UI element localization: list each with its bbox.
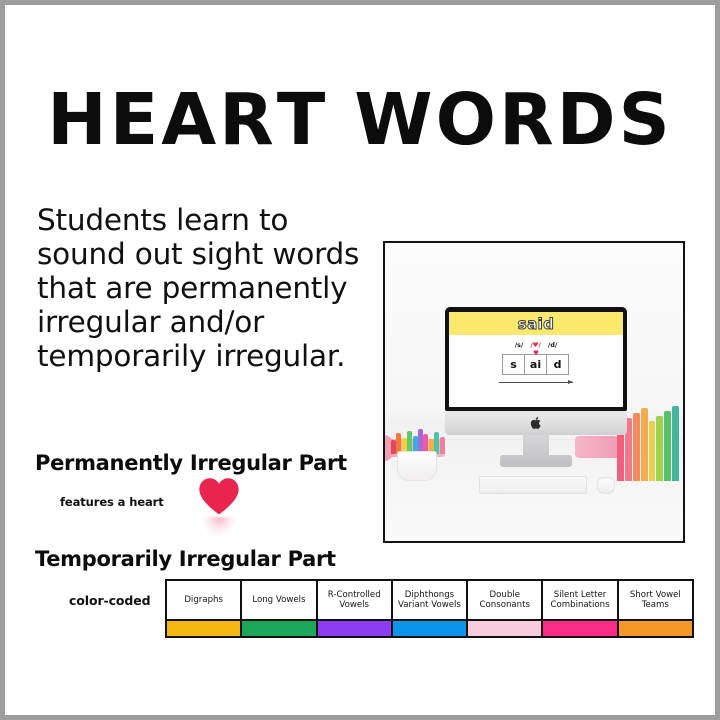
key xyxy=(548,486,554,488)
key xyxy=(541,486,547,488)
color-swatch xyxy=(543,619,616,636)
key xyxy=(504,486,510,488)
key xyxy=(504,482,510,484)
key xyxy=(541,482,547,484)
color-code-label: Long Vowels xyxy=(242,581,315,619)
page-title: HEARTWORDS xyxy=(5,77,715,163)
key xyxy=(511,489,517,491)
key xyxy=(548,489,554,491)
key xyxy=(511,486,517,488)
heart-reflection xyxy=(203,517,235,535)
key xyxy=(519,486,525,488)
color-code-label: Short Vowel Teams xyxy=(619,581,692,619)
key xyxy=(482,486,488,488)
key xyxy=(526,482,532,484)
color-code-label: Silent Letter Combinations xyxy=(543,581,616,619)
imac-computer: said /s//♥//d/ said xyxy=(445,307,627,467)
key xyxy=(563,489,569,491)
key xyxy=(570,479,576,481)
key xyxy=(548,482,554,484)
phoneme-row: /s//♥//d/ xyxy=(449,341,623,349)
title-letter: T xyxy=(277,77,328,163)
sound-box: d xyxy=(546,354,569,375)
key xyxy=(489,486,495,488)
features-a-heart-label: features a heart xyxy=(60,495,164,509)
key xyxy=(534,479,540,481)
pencil-cup-area xyxy=(387,428,449,488)
key xyxy=(511,482,517,484)
key xyxy=(482,479,488,481)
key xyxy=(526,486,532,488)
temporarily-irregular-heading: Temporarily Irregular Part xyxy=(35,547,336,571)
title-letter: H xyxy=(47,77,109,163)
heart-icon xyxy=(198,477,240,515)
key xyxy=(519,489,525,491)
key xyxy=(541,489,547,491)
phoneme: /d/ xyxy=(548,341,557,349)
page-title-text: HEARTWORDS xyxy=(47,77,672,163)
book xyxy=(672,406,679,481)
color-swatch xyxy=(242,619,315,636)
key xyxy=(519,482,525,484)
mini-heart-icon xyxy=(533,350,538,355)
key xyxy=(497,482,503,484)
key xyxy=(563,479,569,481)
color-code-column: Short Vowel Teams xyxy=(619,581,692,636)
banner-word: said xyxy=(518,315,555,333)
slide-canvas: HEARTWORDS Students learn to sound out s… xyxy=(5,5,715,715)
book xyxy=(664,411,671,481)
mouse xyxy=(597,477,615,494)
phoneme: /s/ xyxy=(515,341,524,349)
key xyxy=(578,479,584,481)
color-code-column: Diphthongs Variant Vowels xyxy=(393,581,468,636)
key xyxy=(497,486,503,488)
title-letter: A xyxy=(161,77,219,163)
key xyxy=(534,486,540,488)
key xyxy=(489,489,495,491)
key xyxy=(497,489,503,491)
color-swatch xyxy=(619,619,692,636)
title-letter: R xyxy=(219,77,277,163)
heart-graphic xyxy=(195,477,245,539)
permanently-irregular-heading: Permanently Irregular Part xyxy=(35,451,347,475)
color-coded-label: color-coded xyxy=(69,593,151,608)
title-letter: S xyxy=(619,77,673,163)
key xyxy=(563,486,569,488)
word-banner: said xyxy=(449,312,623,335)
sound-boxes: said xyxy=(449,354,623,375)
key xyxy=(556,489,562,491)
title-letter: R xyxy=(499,77,557,163)
color-code-column: Digraphs xyxy=(167,581,242,636)
pencil xyxy=(391,440,396,454)
book xyxy=(649,421,656,481)
key xyxy=(548,479,554,481)
key xyxy=(489,479,495,481)
color-swatch xyxy=(318,619,391,636)
key xyxy=(534,489,540,491)
color-code-label: R-Controlled Vowels xyxy=(318,581,391,619)
key xyxy=(511,479,517,481)
key xyxy=(519,479,525,481)
pencil xyxy=(440,437,445,454)
book xyxy=(633,413,640,481)
apple-logo-icon xyxy=(531,417,542,429)
color-code-label: Diphthongs Variant Vowels xyxy=(393,581,466,619)
color-code-column: Silent Letter Combinations xyxy=(543,581,618,636)
color-code-column: Long Vowels xyxy=(242,581,317,636)
color-code-column: Double Consonants xyxy=(468,581,543,636)
key xyxy=(504,479,510,481)
white-cup xyxy=(397,451,437,481)
title-letter: E xyxy=(110,77,162,163)
keyboard xyxy=(479,476,587,494)
color-code-column: R-Controlled Vowels xyxy=(318,581,393,636)
key xyxy=(578,486,584,488)
key xyxy=(482,489,488,491)
color-swatch xyxy=(167,619,240,636)
title-letter: W xyxy=(354,77,435,163)
key xyxy=(526,479,532,481)
imac-display: said /s//♥//d/ said xyxy=(449,312,623,407)
key xyxy=(570,486,576,488)
key xyxy=(526,489,532,491)
imac-stand-base xyxy=(500,455,572,467)
title-letter: D xyxy=(557,77,619,163)
imac-bezel: said /s//♥//d/ said xyxy=(445,307,627,411)
phoneme: /♥/ xyxy=(530,341,541,349)
key xyxy=(570,482,576,484)
book xyxy=(641,408,648,481)
key xyxy=(578,489,584,491)
key xyxy=(489,482,495,484)
book xyxy=(656,416,663,481)
key xyxy=(482,482,488,484)
key xyxy=(504,489,510,491)
imac-stand-neck xyxy=(523,435,549,455)
color-code-table: DigraphsLong VowelsR-Controlled VowelsDi… xyxy=(165,579,694,638)
color-code-label: Digraphs xyxy=(167,581,240,619)
key xyxy=(570,489,576,491)
color-swatch xyxy=(468,619,541,636)
intro-paragraph: Students learn to sound out sight words … xyxy=(37,203,373,373)
imac-chin xyxy=(445,411,627,435)
key xyxy=(563,482,569,484)
key xyxy=(541,479,547,481)
key xyxy=(556,479,562,481)
blend-arrow xyxy=(499,380,573,386)
key xyxy=(534,482,540,484)
title-letter: O xyxy=(436,77,499,163)
color-swatch xyxy=(393,619,466,636)
key xyxy=(556,482,562,484)
key xyxy=(497,479,503,481)
sound-box: ai xyxy=(524,354,547,375)
key xyxy=(556,486,562,488)
product-photo: said /s//♥//d/ said xyxy=(383,241,685,543)
color-code-label: Double Consonants xyxy=(468,581,541,619)
key xyxy=(578,482,584,484)
sound-box: s xyxy=(502,354,525,375)
slide-page: HEARTWORDS Students learn to sound out s… xyxy=(0,0,720,720)
